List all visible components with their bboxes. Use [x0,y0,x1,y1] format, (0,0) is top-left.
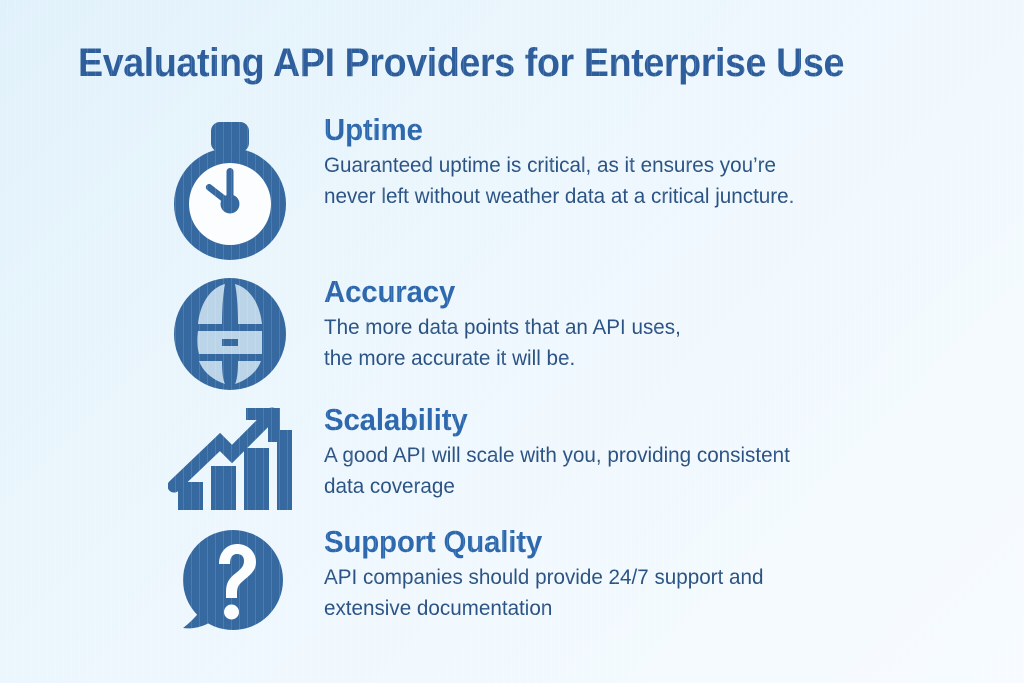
list-item-heading: Scalability [324,402,957,438]
list-item: Accuracy The more data points that an AP… [150,274,990,394]
description-line: extensive documentation [324,593,963,624]
list-item-description: The more data points that an API uses, t… [324,312,963,373]
list-item-description: Guaranteed uptime is critical, as it ens… [324,150,963,211]
list-item-body: Support Quality API companies should pro… [310,524,990,623]
list-item-body: Uptime Guaranteed uptime is critical, as… [310,112,990,211]
list-item-description: API companies should provide 24/7 suppor… [324,562,963,623]
stopwatch-icon [150,112,310,264]
infographic-canvas: Evaluating API Providers for Enterprise … [0,0,1024,683]
list-item: Scalability A good API will scale with y… [150,402,990,514]
question-speech-bubble-icon [150,524,310,640]
description-line: Guaranteed uptime is critical, as it ens… [324,150,963,181]
list-item-body: Scalability A good API will scale with y… [310,402,990,501]
list-item-heading: Uptime [324,112,957,148]
list-item-body: Accuracy The more data points that an AP… [310,274,990,373]
description-line: The more data points that an API uses, [324,312,963,343]
list-item-heading: Support Quality [324,524,957,560]
list-item: Support Quality API companies should pro… [150,524,990,640]
list-item: Uptime Guaranteed uptime is critical, as… [150,112,990,264]
growth-chart-icon [150,402,310,514]
page-title: Evaluating API Providers for Enterprise … [78,40,924,86]
description-line: the more accurate it will be. [324,343,963,374]
globe-icon [150,274,310,394]
description-line: data coverage [324,471,963,502]
description-line: A good API will scale with you, providin… [324,440,963,471]
list-item-description: A good API will scale with you, providin… [324,440,963,501]
description-line: never left without weather data at a cri… [324,181,963,212]
list-item-heading: Accuracy [324,274,957,310]
description-line: API companies should provide 24/7 suppor… [324,562,963,593]
